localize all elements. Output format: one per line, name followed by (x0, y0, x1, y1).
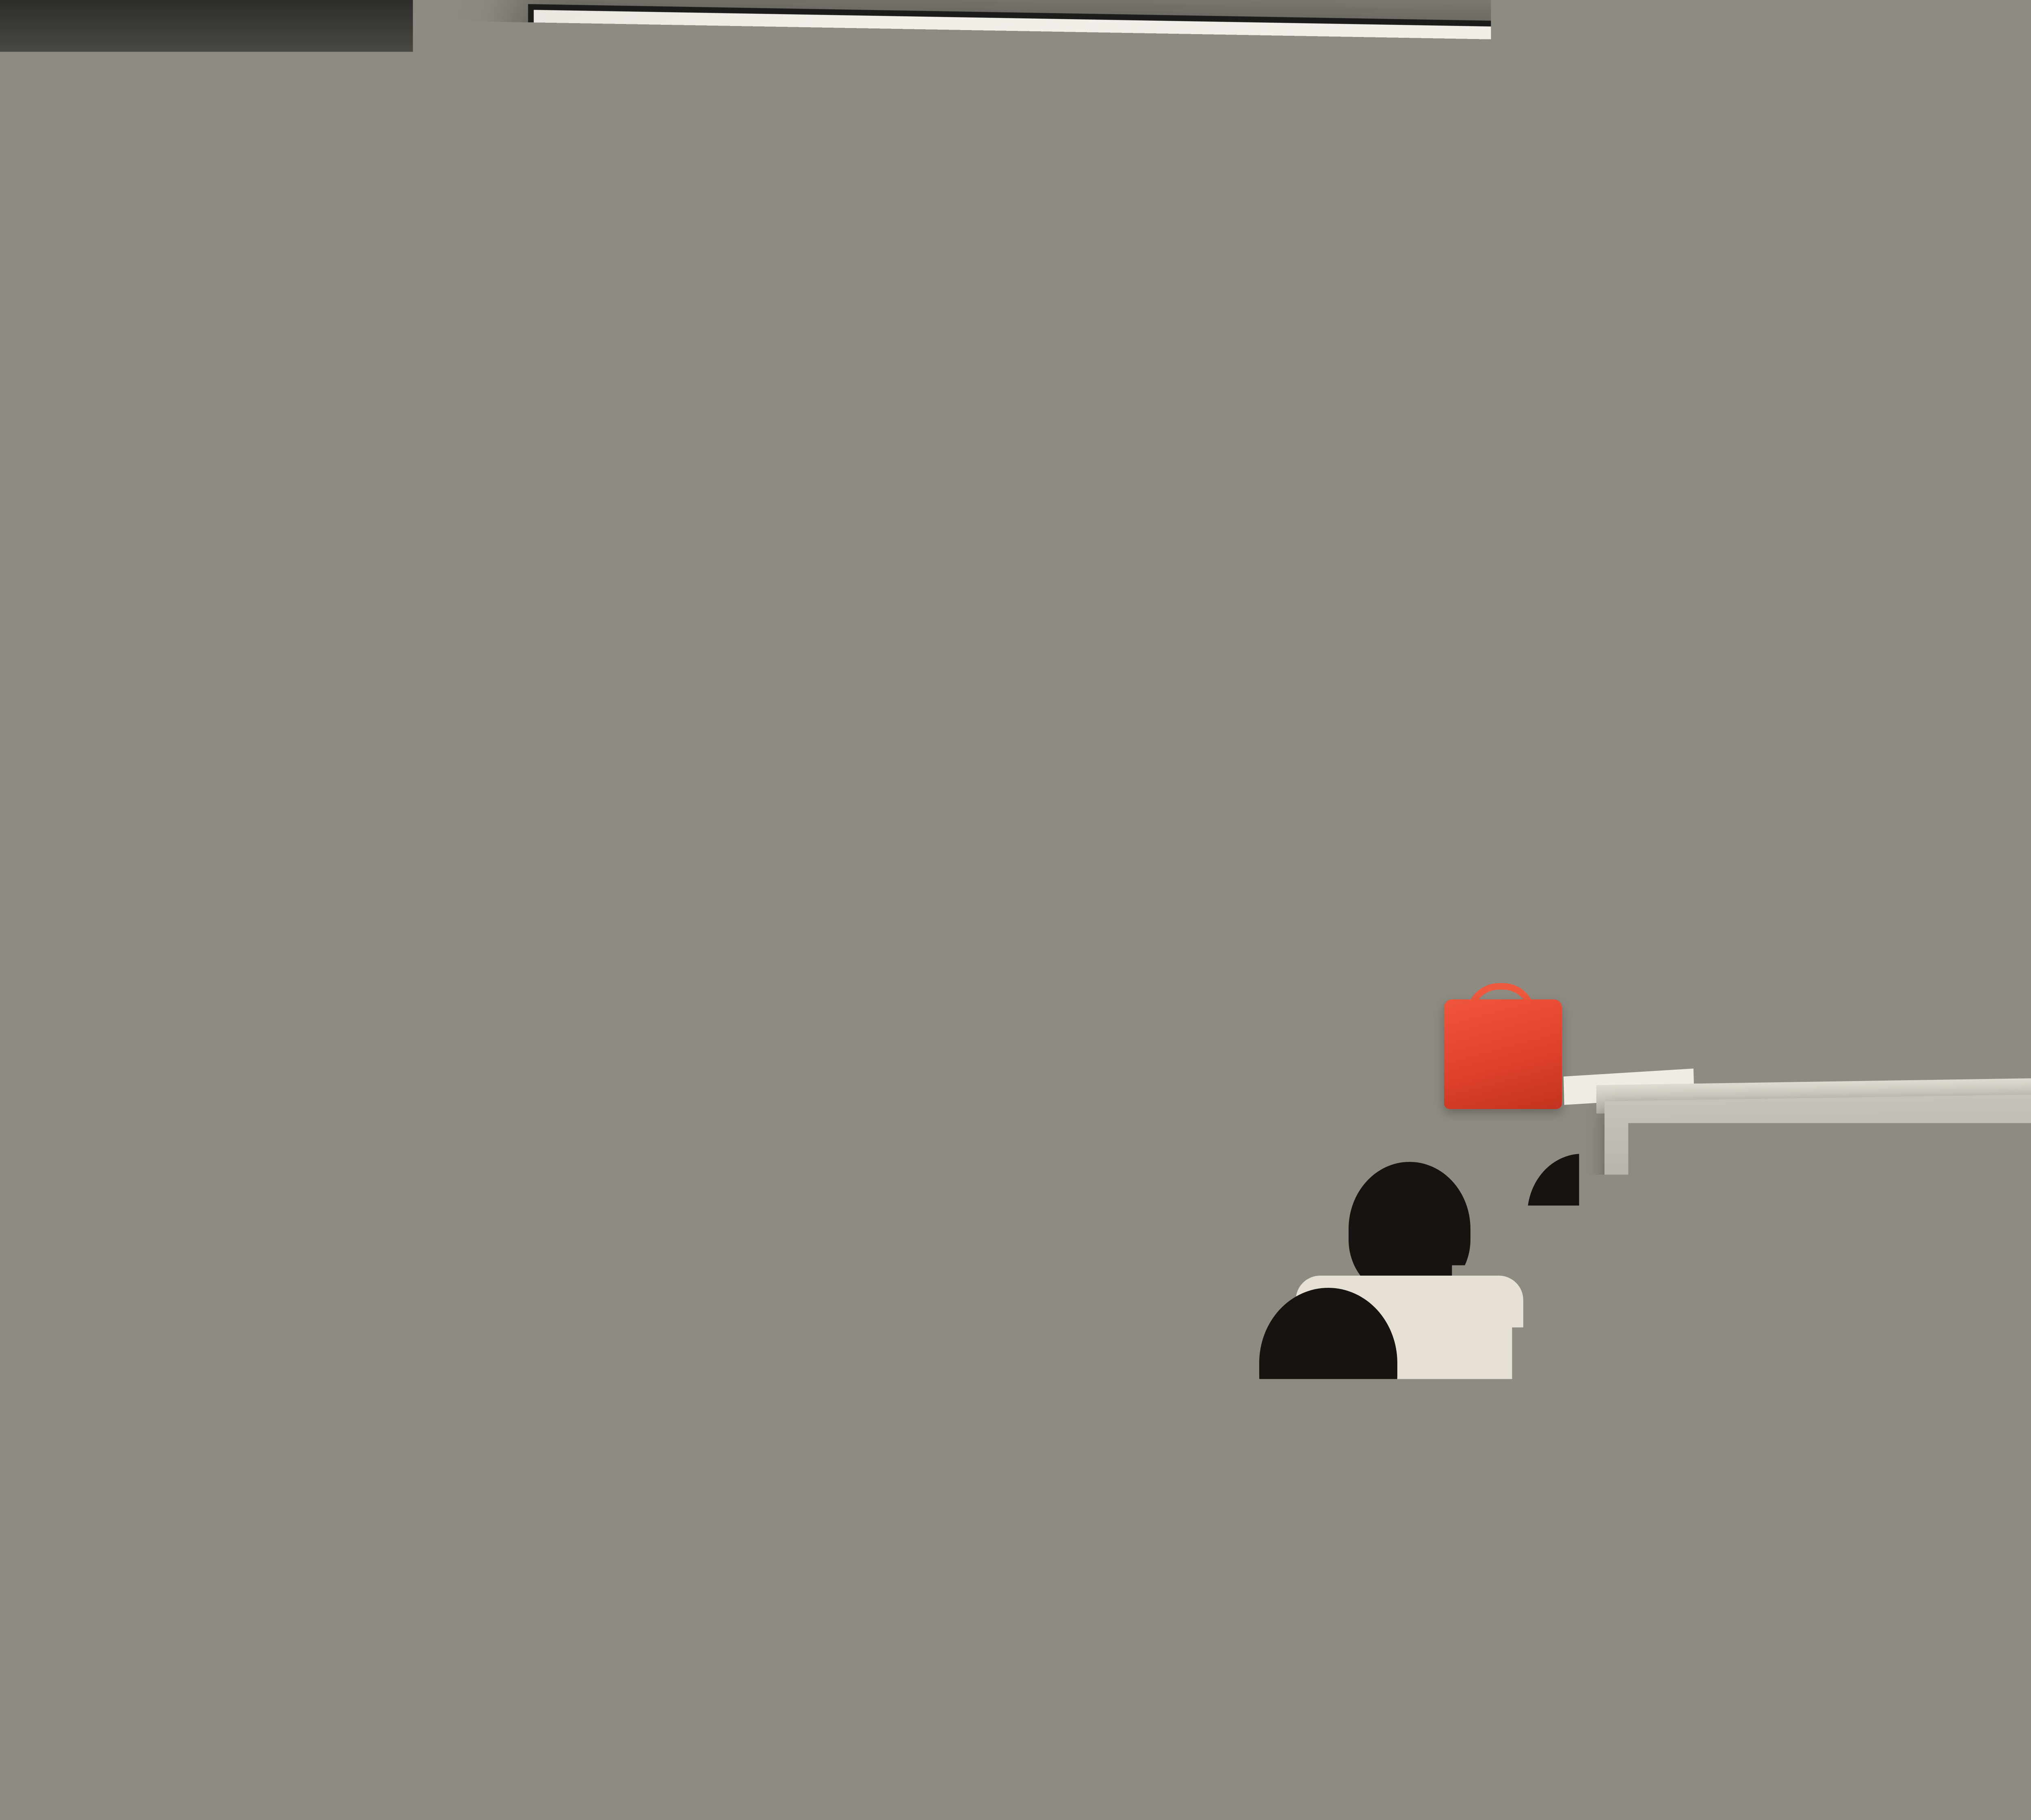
lecture-hall-photo: 大学生入党启蒙课 | 了解党的百年历程 | 四个伟大成就 党的百年历史四大成就与… (0, 0, 2031, 1820)
audience-head (1645, 1341, 1779, 1487)
slide-title-band: 党的百年历史四大成就与四个时期 (534, 150, 2031, 327)
shirt-placket (1818, 930, 1825, 987)
period-tag: 新民主主义革命时 (656, 321, 892, 366)
audience-head (1401, 1503, 1556, 1674)
poster-text-lines (200, 742, 283, 813)
audience-head (963, 1267, 1097, 1414)
section-chip: 四个伟大成就 (1114, 101, 1291, 152)
party-emblem-icon (585, 101, 615, 129)
audience-head (1028, 1483, 1190, 1662)
slide-rows: 新民主主义革命时 从1921年7月中国共产党成立到1949年10月中华人民共和国… (534, 318, 2031, 741)
period-highlight: 浴血奋战、百折不挠， (756, 378, 1015, 413)
audience-head (49, 1105, 167, 1235)
red-handbag (1444, 999, 1562, 1109)
breadcrumb-topic: 了解党的百年历程 (870, 103, 1072, 141)
wall-camera-icon (283, 578, 363, 616)
period-dash: —— (701, 589, 747, 618)
period-tag: 中国特色社会主义新时代 (656, 639, 973, 688)
audience-head (1259, 1288, 1397, 1438)
audience-head (691, 1527, 853, 1702)
audience-head (1109, 1137, 1231, 1272)
fan-base (455, 1255, 536, 1275)
audience-head (386, 1308, 520, 1454)
period-highlight: 解放思想、锐意进取， (756, 590, 1015, 626)
audience-body-pink (1584, 1467, 1836, 1710)
audience-head (256, 1475, 418, 1649)
period-tag: 社会主义革命和建设时 (656, 427, 946, 474)
period-highlight: 自力更生、发愤图强， (756, 484, 1015, 519)
audience-head (658, 1292, 792, 1438)
cord-tail (1807, 80, 1825, 145)
audience-body (4, 1219, 211, 1462)
poster-emblem-icon (225, 704, 249, 725)
slide-header: 大学生入党启蒙课 | 了解党的百年历程 | 四个伟大成就 (585, 91, 1291, 152)
period-desc: 从2012年11月党的十八大召开至今。 (982, 650, 1410, 700)
poster-text-lines (311, 724, 412, 804)
eyeglasses-icon (1786, 835, 1858, 852)
audience-body-light (0, 1727, 236, 1820)
period-desc: 从1978年12月到2012年11月党的十八大召开； (1119, 547, 1665, 600)
period-achievement: 创造了新民主主义革命的伟大成就 (1022, 385, 1416, 423)
period-tag: 改革开放和社会主义现代化建设新时 (656, 533, 1109, 585)
slide-title: 党的百年历史四大成就与四个时期 (635, 172, 1454, 262)
audience-body (1336, 1653, 1621, 1820)
audience-head (833, 1146, 951, 1276)
projector-cord (1815, 0, 1819, 53)
fan-pole (487, 1044, 501, 1263)
audience-head (1527, 1154, 1637, 1276)
audience-body-blue (955, 1637, 1255, 1820)
poster-header-bar (311, 700, 409, 713)
audience-body (621, 1682, 922, 1820)
period-desc: 从1949年10月到1978年12月党的十一届三中全会召开； (955, 436, 1606, 490)
period-dash: —— (701, 377, 747, 406)
green-notice-poster (301, 691, 422, 812)
period-dash: —— (701, 483, 747, 512)
breadcrumb-separator: | (842, 106, 856, 133)
red-notice-poster (191, 687, 292, 821)
cord-plug (1804, 48, 1829, 83)
breadcrumb-separator-2: | (1085, 111, 1100, 138)
period-desc: 从1921年7月中国共产党成立到1949年10月中华人民共和国成立； (901, 328, 1668, 383)
period-achievement: 创造了社会主义革命和建设的伟大成就 (1022, 491, 1468, 531)
breadcrumb-course: 大学生入党启蒙课 (628, 98, 828, 136)
